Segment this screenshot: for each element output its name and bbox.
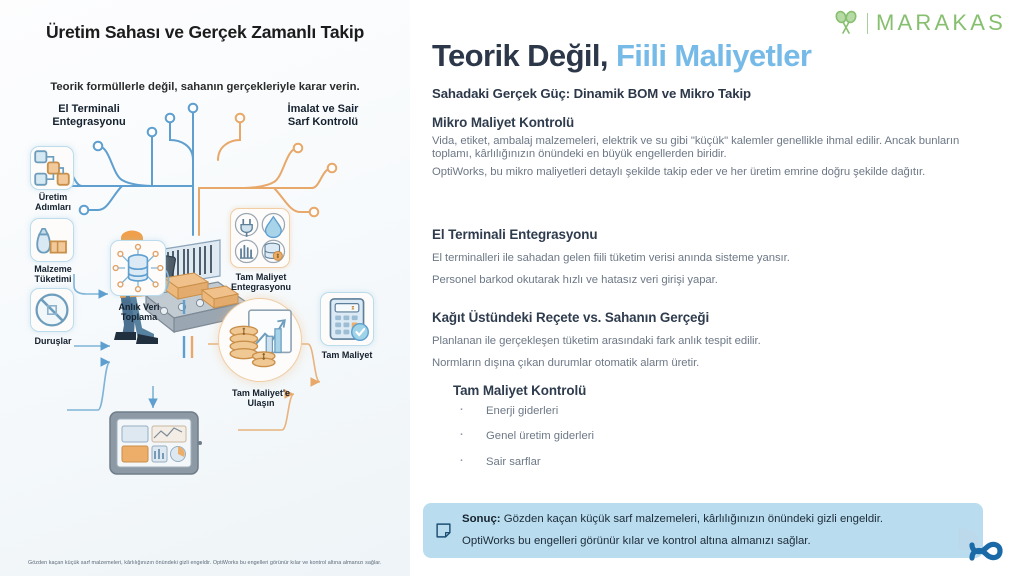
left-visual-panel: Üretim Sahası ve Gerçek Zamanlı Takip Te… xyxy=(0,0,410,576)
label-tam-maliyet-entegrasyonu: Tam MaliyetEntegrasyonu xyxy=(218,272,304,293)
section-mikro-maliyet: Mikro Maliyet Kontrolü Vida, etiket, amb… xyxy=(432,115,992,183)
section-title: Mikro Maliyet Kontrolü xyxy=(432,115,992,130)
conclusion-callout: Sonuç: Gözden kaçan küçük sarf malzemele… xyxy=(423,503,983,558)
coins-chart-icon xyxy=(218,298,302,382)
section-paragraph: Normların dışına çıkan durumlar otomatik… xyxy=(432,352,992,374)
infinity-logo-icon xyxy=(954,528,1018,572)
callout-line2: OptiWorks bu engelleri görünür kılar ve … xyxy=(462,535,811,547)
brand-logo: MARAKAS xyxy=(833,10,1006,36)
callout-label: Sonuç: xyxy=(462,513,501,525)
callout-text: Sonuç: Gözden kaçan küçük sarf malzemele… xyxy=(462,509,883,551)
label-tam-maliyet: Tam Maliyet xyxy=(308,350,386,360)
process-diagram: El TerminaliEntegrasyonu İmalat ve SairS… xyxy=(12,100,398,552)
callout-line1: Gözden kaçan küçük sarf malzemeleri, kâr… xyxy=(501,513,883,525)
label-imalat-sarf: İmalat ve SairSarf Kontrolü xyxy=(258,103,388,128)
brand-divider xyxy=(867,13,869,34)
label-tam-maliyete-ulasin: Tam Maliyet'eUlaşın xyxy=(216,388,306,409)
section-title: El Terminali Entegrasyonu xyxy=(432,227,992,242)
page-title-part1: Teorik Değil, xyxy=(432,38,608,73)
slide-root: Üretim Sahası ve Gerçek Zamanlı Takip Te… xyxy=(0,0,1024,576)
calculator-check-icon xyxy=(320,292,374,346)
section-recete-gercek: Kağıt Üstündeki Reçete vs. Sahanın Gerçe… xyxy=(432,310,992,374)
right-content-panel: MARAKAS Teorik Değil, Fiili Maliyetler S… xyxy=(410,0,1024,576)
label-malzeme-tuketimi: MalzemeTüketimi xyxy=(12,264,94,285)
footnote-text: Gözden kaçan küçük sarf malzemeleri, kâr… xyxy=(28,560,410,567)
section-title: Tam Maliyet Kontrolü xyxy=(453,383,993,398)
stop-sign-icon xyxy=(30,288,74,332)
label-el-terminali: El TerminaliEntegrasyonu xyxy=(24,103,154,128)
page-subtitle: Sahadaki Gerçek Güç: Dinamik BOM ve Mikr… xyxy=(432,86,751,101)
list-item: Enerji giderleri xyxy=(453,406,993,417)
maracas-icon xyxy=(833,10,859,36)
label-duruslar: Duruşlar xyxy=(12,336,94,346)
section-paragraph: Personel barkod okutarak hızlı ve hatası… xyxy=(432,269,992,291)
label-uretim-adimlari: ÜretimAdımları xyxy=(12,192,94,213)
page-title: Teorik Değil, Fiili Maliyetler xyxy=(432,38,811,74)
section-paragraph: OptiWorks, bu mikro maliyetleri detaylı … xyxy=(432,166,992,179)
page-title-part2: Fiili Maliyetler xyxy=(616,38,811,73)
section-paragraph: El terminalleri ile sahadan gelen fiili … xyxy=(432,247,992,269)
brand-name: MARAKAS xyxy=(876,10,1006,36)
section-paragraph: Planlanan ile gerçekleşen tüketim arasın… xyxy=(432,330,992,352)
section-tam-maliyet: Tam Maliyet Kontrolü Enerji giderleri Ge… xyxy=(453,383,993,482)
list-item: Genel üretim giderleri xyxy=(453,431,993,442)
bullet-list: Enerji giderleri Genel üretim giderleri … xyxy=(453,406,993,468)
section-el-terminali: El Terminali Entegrasyonu El terminaller… xyxy=(432,227,992,291)
note-icon xyxy=(435,522,452,539)
section-paragraph: Vida, etiket, ambalaj malzemeleri, elekt… xyxy=(432,135,992,162)
list-item: Sair sarflar xyxy=(453,457,993,468)
database-network-icon xyxy=(110,240,166,296)
section-title: Kağıt Üstündeki Reçete vs. Sahanın Gerçe… xyxy=(432,310,992,325)
label-anlik-veri: Anlık VeriToplama xyxy=(100,302,178,323)
